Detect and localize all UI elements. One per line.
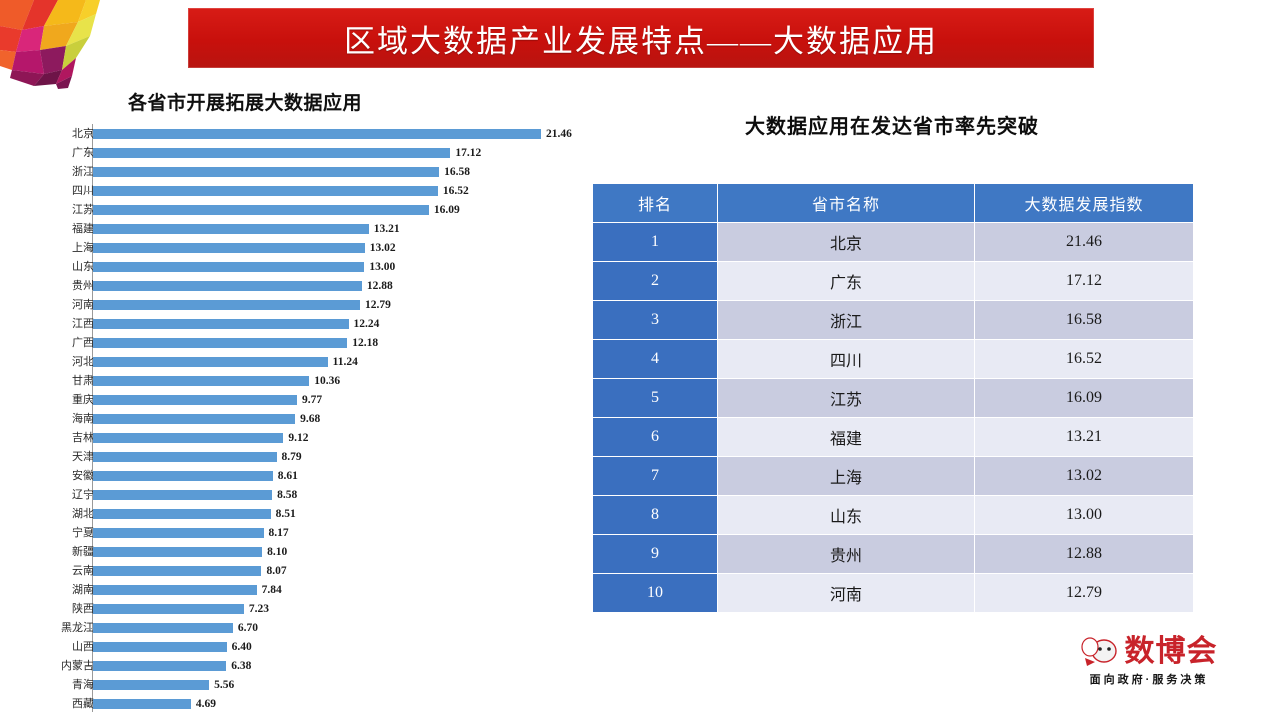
bar-track: 12.18: [93, 333, 588, 352]
bar-row: 青海5.56: [28, 675, 588, 694]
table-row: 2广东17.12: [593, 262, 1193, 300]
bar-value-label: 12.88: [367, 280, 393, 292]
bar-row: 云南8.07: [28, 561, 588, 580]
bar: [93, 623, 233, 633]
axis-tick: [86, 400, 92, 401]
axis-tick: [86, 533, 92, 534]
bar-track: 13.00: [93, 257, 588, 276]
cell-rank: 1: [593, 223, 717, 261]
bar-value-label: 12.79: [365, 299, 391, 311]
axis-tick: [86, 476, 92, 477]
bar-value-label: 13.02: [370, 242, 396, 254]
bar-value-label: 8.10: [267, 546, 287, 558]
bar-track: 16.52: [93, 181, 588, 200]
bar-category-label: 浙江: [34, 166, 94, 178]
bar-category-label: 吉林: [34, 432, 94, 444]
axis-tick: [86, 324, 92, 325]
bar-value-label: 13.00: [369, 261, 395, 273]
axis-tick: [86, 381, 92, 382]
bar: [93, 604, 244, 614]
cell-rank: 9: [593, 535, 717, 573]
bar: [93, 395, 297, 405]
bar: [93, 471, 273, 481]
bar: [93, 338, 347, 348]
bar-series: 北京21.46广东17.12浙江16.58四川16.52江苏16.09福建13.…: [28, 124, 588, 713]
bar: [93, 357, 328, 367]
bar-track: 6.40: [93, 637, 588, 656]
bar-value-label: 6.70: [238, 622, 258, 634]
bar: [93, 547, 262, 557]
bar: [93, 566, 261, 576]
table-header-row: 排名 省市名称 大数据发展指数: [593, 184, 1193, 222]
bar-row: 西藏4.69: [28, 694, 588, 713]
bar-value-label: 9.77: [302, 394, 322, 406]
axis-tick: [86, 419, 92, 420]
bar: [93, 585, 257, 595]
bar-value-label: 9.68: [300, 413, 320, 425]
bar-track: 17.12: [93, 143, 588, 162]
bar-row: 福建13.21: [28, 219, 588, 238]
axis-tick: [86, 267, 92, 268]
bar-row: 上海13.02: [28, 238, 588, 257]
cell-rank: 2: [593, 262, 717, 300]
table-title: 大数据应用在发达省市率先突破: [592, 110, 1192, 139]
bar-row: 吉林9.12: [28, 428, 588, 447]
axis-tick: [86, 134, 92, 135]
axis-tick: [86, 248, 92, 249]
bar-value-label: 6.40: [232, 641, 252, 653]
table-row: 6福建13.21: [593, 418, 1193, 456]
bar-value-label: 17.12: [455, 147, 481, 159]
bar-category-label: 上海: [34, 242, 94, 254]
table-row: 1北京21.46: [593, 223, 1193, 261]
bar-row: 湖南7.84: [28, 580, 588, 599]
bar-chart-panel: 各省市开展拓展大数据应用 北京21.46广东17.12浙江16.58四川16.5…: [28, 84, 588, 714]
bar-category-label: 陕西: [34, 603, 94, 615]
bar-track: 10.36: [93, 371, 588, 390]
axis-tick: [86, 191, 92, 192]
bar-category-label: 北京: [34, 128, 94, 140]
bar-value-label: 21.46: [546, 128, 572, 140]
bar: [93, 528, 264, 538]
bar-row: 浙江16.58: [28, 162, 588, 181]
cell-rank: 10: [593, 574, 717, 612]
cell-province: 山东: [718, 496, 974, 534]
bar-category-label: 江西: [34, 318, 94, 330]
bar-track: 8.61: [93, 466, 588, 485]
cell-province: 浙江: [718, 301, 974, 339]
bar-row: 江西12.24: [28, 314, 588, 333]
column-header-province: 省市名称: [718, 184, 974, 222]
bar: [93, 699, 191, 709]
cell-rank: 8: [593, 496, 717, 534]
bar-row: 重庆9.77: [28, 390, 588, 409]
bar-value-label: 8.61: [278, 470, 298, 482]
table-row: 9贵州12.88: [593, 535, 1193, 573]
axis-tick: [86, 457, 92, 458]
bar-row: 新疆8.10: [28, 542, 588, 561]
bar-category-label: 湖北: [34, 508, 94, 520]
axis-tick: [86, 305, 92, 306]
bar-track: 21.46: [93, 124, 588, 143]
bar: [93, 205, 429, 215]
table-row: 4四川16.52: [593, 340, 1193, 378]
cell-province: 河南: [718, 574, 974, 612]
bar-track: 9.12: [93, 428, 588, 447]
cell-index: 21.46: [975, 223, 1193, 261]
bar-value-label: 8.58: [277, 489, 297, 501]
bar-track: 11.24: [93, 352, 588, 371]
cell-index: 13.21: [975, 418, 1193, 456]
bar-category-label: 安徽: [34, 470, 94, 482]
bar-value-label: 10.36: [314, 375, 340, 387]
bar-row: 内蒙古6.38: [28, 656, 588, 675]
table-row: 8山东13.00: [593, 496, 1193, 534]
bar-row: 山东13.00: [28, 257, 588, 276]
bar-track: 8.17: [93, 523, 588, 542]
bar-category-label: 山西: [34, 641, 94, 653]
bar-category-label: 云南: [34, 565, 94, 577]
bar-category-label: 黑龙江: [34, 622, 94, 634]
bar-category-label: 广东: [34, 147, 94, 159]
bar-row: 贵州12.88: [28, 276, 588, 295]
bar-row: 天津8.79: [28, 447, 588, 466]
bar-value-label: 8.51: [276, 508, 296, 520]
bar-value-label: 12.24: [354, 318, 380, 330]
bar-value-label: 8.07: [266, 565, 286, 577]
bar-value-label: 6.38: [231, 660, 251, 672]
bar-category-label: 新疆: [34, 546, 94, 558]
bar-track: 13.02: [93, 238, 588, 257]
bar-track: 8.58: [93, 485, 588, 504]
bar-track: 12.79: [93, 295, 588, 314]
bar-row: 山西6.40: [28, 637, 588, 656]
bar-row: 河北11.24: [28, 352, 588, 371]
bar-track: 8.07: [93, 561, 588, 580]
bar-track: 16.58: [93, 162, 588, 181]
axis-tick: [86, 153, 92, 154]
bar-row: 北京21.46: [28, 124, 588, 143]
bar-value-label: 16.52: [443, 185, 469, 197]
bar-category-label: 湖南: [34, 584, 94, 596]
bar: [93, 224, 369, 234]
bar: [93, 490, 272, 500]
bar-value-label: 8.17: [269, 527, 289, 539]
bar: [93, 129, 541, 139]
bar-category-label: 江苏: [34, 204, 94, 216]
table-row: 5江苏16.09: [593, 379, 1193, 417]
bar-value-label: 7.84: [262, 584, 282, 596]
axis-tick: [86, 590, 92, 591]
cell-index: 12.88: [975, 535, 1193, 573]
bar-track: 6.38: [93, 656, 588, 675]
page-title: 区域大数据产业发展特点——大数据应用: [344, 16, 938, 61]
bar-category-label: 山东: [34, 261, 94, 273]
table-row: 10河南12.79: [593, 574, 1193, 612]
corner-decoration-graphic: [0, 0, 100, 92]
axis-tick: [86, 552, 92, 553]
bar-row: 甘肃10.36: [28, 371, 588, 390]
cell-province: 四川: [718, 340, 974, 378]
bar-row: 江苏16.09: [28, 200, 588, 219]
bar: [93, 319, 349, 329]
bar-category-label: 重庆: [34, 394, 94, 406]
logo-tagline: 面向政府·服务决策: [1038, 671, 1260, 687]
cell-rank: 5: [593, 379, 717, 417]
cell-province: 广东: [718, 262, 974, 300]
bar-track: 9.77: [93, 390, 588, 409]
cell-index: 16.52: [975, 340, 1193, 378]
bar-value-label: 16.09: [434, 204, 460, 216]
bar-track: 8.51: [93, 504, 588, 523]
bar-category-label: 青海: [34, 679, 94, 691]
bar: [93, 167, 439, 177]
bar: [93, 661, 226, 671]
bar-row: 安徽8.61: [28, 466, 588, 485]
column-header-rank: 排名: [593, 184, 717, 222]
bar-row: 陕西7.23: [28, 599, 588, 618]
ranking-table: 排名 省市名称 大数据发展指数 1北京21.462广东17.123浙江16.58…: [592, 183, 1194, 613]
cell-rank: 7: [593, 457, 717, 495]
bar-track: 9.68: [93, 409, 588, 428]
axis-tick: [86, 685, 92, 686]
bar-track: 13.21: [93, 219, 588, 238]
bar-track: 8.10: [93, 542, 588, 561]
table-row: 7上海13.02: [593, 457, 1193, 495]
cell-province: 江苏: [718, 379, 974, 417]
cell-index: 16.58: [975, 301, 1193, 339]
bar-category-label: 内蒙古: [34, 660, 94, 672]
table-row: 3浙江16.58: [593, 301, 1193, 339]
bar-category-label: 四川: [34, 185, 94, 197]
axis-tick: [86, 647, 92, 648]
bar-category-label: 西藏: [34, 698, 94, 710]
axis-tick: [86, 571, 92, 572]
logo-wordmark: 数博会: [1125, 636, 1218, 668]
bar-category-label: 广西: [34, 337, 94, 349]
cell-rank: 4: [593, 340, 717, 378]
bar-category-label: 福建: [34, 223, 94, 235]
ranking-table-panel: 大数据应用在发达省市率先突破 排名 省市名称 大数据发展指数 1北京21.462…: [592, 110, 1192, 613]
bar: [93, 509, 271, 519]
bar-track: 7.84: [93, 580, 588, 599]
chart-title: 各省市开展拓展大数据应用: [128, 88, 362, 115]
bar-track: 7.23: [93, 599, 588, 618]
axis-tick: [86, 495, 92, 496]
bar: [93, 148, 450, 158]
slide-title-banner: 区域大数据产业发展特点——大数据应用: [188, 8, 1094, 68]
bar: [93, 300, 360, 310]
cell-index: 13.02: [975, 457, 1193, 495]
bar-category-label: 河南: [34, 299, 94, 311]
bar-track: 6.70: [93, 618, 588, 637]
bar-track: 4.69: [93, 694, 588, 713]
bar-category-label: 辽宁: [34, 489, 94, 501]
column-header-index: 大数据发展指数: [975, 184, 1193, 222]
brand-logo: 数博会 面向政府·服务决策: [1038, 636, 1260, 710]
bar: [93, 376, 309, 386]
bar-row: 海南9.68: [28, 409, 588, 428]
bar-value-label: 16.58: [444, 166, 470, 178]
cell-index: 16.09: [975, 379, 1193, 417]
bar-category-label: 贵州: [34, 280, 94, 292]
cell-index: 12.79: [975, 574, 1193, 612]
axis-tick: [86, 172, 92, 173]
cell-index: 13.00: [975, 496, 1193, 534]
cell-index: 17.12: [975, 262, 1193, 300]
bar-track: 5.56: [93, 675, 588, 694]
logo-mascot-icon: [1081, 636, 1121, 668]
bar-row: 河南12.79: [28, 295, 588, 314]
bar-value-label: 5.56: [214, 679, 234, 691]
axis-tick: [86, 666, 92, 667]
bar-row: 广东17.12: [28, 143, 588, 162]
bar-category-label: 河北: [34, 356, 94, 368]
bar: [93, 680, 209, 690]
bar-row: 广西12.18: [28, 333, 588, 352]
bar-value-label: 9.12: [288, 432, 308, 444]
bar-track: 12.24: [93, 314, 588, 333]
bar-value-label: 4.69: [196, 698, 216, 710]
axis-tick: [86, 628, 92, 629]
bar-category-label: 天津: [34, 451, 94, 463]
bar: [93, 262, 364, 272]
axis-tick: [86, 229, 92, 230]
bar: [93, 642, 227, 652]
cell-province: 上海: [718, 457, 974, 495]
bar-value-label: 7.23: [249, 603, 269, 615]
bar-value-label: 13.21: [374, 223, 400, 235]
bar: [93, 243, 365, 253]
bar-row: 黑龙江6.70: [28, 618, 588, 637]
bar-row: 宁夏8.17: [28, 523, 588, 542]
bar-category-label: 宁夏: [34, 527, 94, 539]
bar-row: 四川16.52: [28, 181, 588, 200]
cell-province: 贵州: [718, 535, 974, 573]
chart-plot-area: 北京21.46广东17.12浙江16.58四川16.52江苏16.09福建13.…: [28, 124, 588, 712]
cell-rank: 3: [593, 301, 717, 339]
bar: [93, 281, 362, 291]
axis-tick: [86, 343, 92, 344]
bar: [93, 186, 438, 196]
axis-tick: [86, 210, 92, 211]
cell-province: 福建: [718, 418, 974, 456]
bar: [93, 433, 283, 443]
bar-track: 16.09: [93, 200, 588, 219]
bar-track: 8.79: [93, 447, 588, 466]
bar-value-label: 11.24: [333, 356, 358, 368]
bar-value-label: 12.18: [352, 337, 378, 349]
axis-tick: [86, 362, 92, 363]
axis-tick: [86, 514, 92, 515]
bar-category-label: 海南: [34, 413, 94, 425]
cell-province: 北京: [718, 223, 974, 261]
bar-row: 辽宁8.58: [28, 485, 588, 504]
axis-tick: [86, 704, 92, 705]
axis-tick: [86, 609, 92, 610]
bar: [93, 414, 295, 424]
cell-rank: 6: [593, 418, 717, 456]
bar-value-label: 8.79: [282, 451, 302, 463]
bar: [93, 452, 277, 462]
bar-row: 湖北8.51: [28, 504, 588, 523]
bar-track: 12.88: [93, 276, 588, 295]
axis-tick: [86, 286, 92, 287]
bar-category-label: 甘肃: [34, 375, 94, 387]
axis-tick: [86, 438, 92, 439]
